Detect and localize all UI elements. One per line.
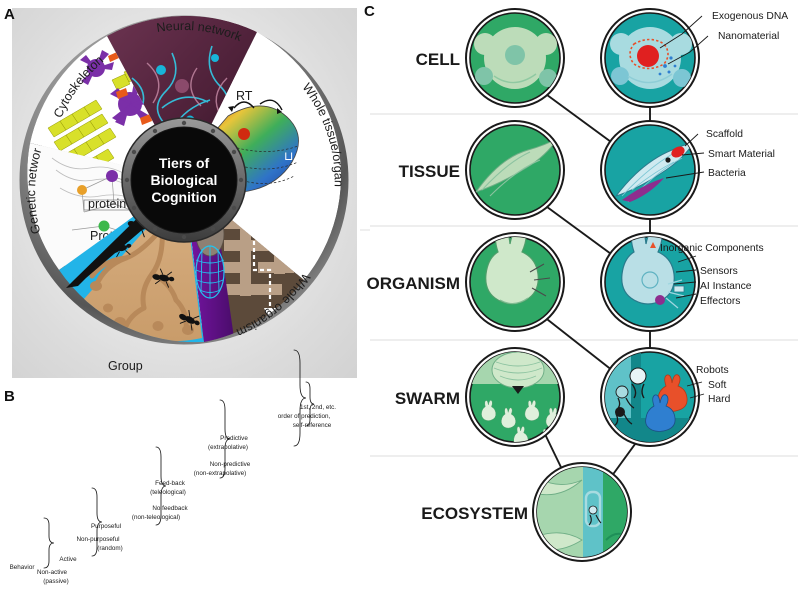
panel-c-diagram: CELL: [360, 0, 800, 600]
annot-smart-material: Smart Material: [708, 149, 775, 160]
node-non-predictive-2: (non-extrapolative): [194, 470, 247, 477]
row-label-organism: ORGANISM: [367, 274, 461, 293]
node-order-3: self-reference: [293, 422, 332, 429]
panel-a-illustration: protein complex Protein1: [12, 8, 357, 378]
panel-b: Behavior Active Non-active (passive) Pur…: [0, 378, 360, 600]
brace-behavior: [44, 518, 54, 568]
panel-a: protein complex Protein1: [12, 8, 357, 378]
node-no-feedback-2: (non-teleological): [132, 514, 180, 521]
node-order-2: order of prediction,: [278, 413, 331, 420]
row-label-swarm: SWARM: [395, 389, 460, 408]
annot-inorganic-components: Inorganic Components: [660, 243, 764, 254]
svg-text:⊔: ⊔: [284, 149, 293, 163]
figure-root: protein complex Protein1: [0, 0, 800, 600]
ecosystem-circle[interactable]: [533, 463, 631, 600]
annot-nanomaterial: Nanomaterial: [718, 31, 779, 42]
tissue-engineered[interactable]: [601, 121, 699, 219]
rt-label: RT: [236, 89, 253, 103]
genetic-node-2: [77, 185, 87, 195]
annot-scaffold: Scaffold: [706, 129, 743, 140]
row-label-tissue: TISSUE: [399, 162, 460, 181]
node-predictive-2: (extrapolative): [208, 444, 248, 451]
annot-ai-instance: AI Instance: [700, 281, 752, 292]
annot-sensors: Sensors: [700, 266, 738, 277]
hub-line-3: Cognition: [151, 189, 216, 205]
genetic-node-1: [106, 170, 118, 182]
node-non-active-2: (passive): [43, 578, 69, 585]
annot-effectors: Effectors: [700, 296, 740, 307]
organism-natural[interactable]: [466, 227, 564, 331]
hub-line-1: Tiers of: [159, 155, 210, 171]
row-label-cell: CELL: [416, 50, 460, 69]
node-non-active-1: Non-active: [37, 569, 68, 576]
annot-bacteria: Bacteria: [708, 168, 746, 179]
swarm-natural[interactable]: [466, 348, 564, 449]
wedge-label-group: Group: [108, 359, 143, 373]
panel-a-letter: A: [4, 6, 14, 23]
tissue-natural[interactable]: [466, 121, 564, 219]
node-non-purposeful-1: Non-purposeful: [76, 536, 119, 543]
node-active: Active: [59, 556, 77, 563]
node-no-feedback-1: No feedback: [152, 505, 188, 512]
node-behavior: Behavior: [10, 564, 35, 571]
node-feedback-2: (teleological): [150, 489, 186, 496]
cell-natural[interactable]: [466, 9, 564, 107]
node-non-purposeful-2: (random): [97, 545, 123, 552]
row-label-ecosystem: ECOSYSTEM: [421, 504, 528, 523]
panel-c: CELL: [360, 0, 800, 600]
node-order-1: 1st, 2nd, etc.: [300, 404, 336, 411]
annot-exogenous-dna: Exogenous DNA: [712, 11, 788, 22]
node-predictive-1: Predictive: [220, 435, 248, 442]
hub-line-2: Biological: [151, 172, 218, 188]
panel-c-letter: C: [364, 3, 374, 20]
swarm-engineered[interactable]: [601, 348, 699, 446]
annot-hard: Hard: [708, 394, 731, 405]
annot-soft: Soft: [708, 380, 726, 391]
node-purposeful: Purposeful: [91, 523, 121, 530]
node-non-predictive-1: Non-predictive: [210, 461, 251, 468]
node-feedback-1: Feed-back: [155, 480, 186, 487]
annot-robots: Robots: [696, 365, 729, 376]
panel-b-letter: B: [4, 388, 14, 405]
panel-b-tree: Behavior Active Non-active (passive) Pur…: [0, 378, 360, 600]
cell-engineered[interactable]: [601, 9, 699, 107]
